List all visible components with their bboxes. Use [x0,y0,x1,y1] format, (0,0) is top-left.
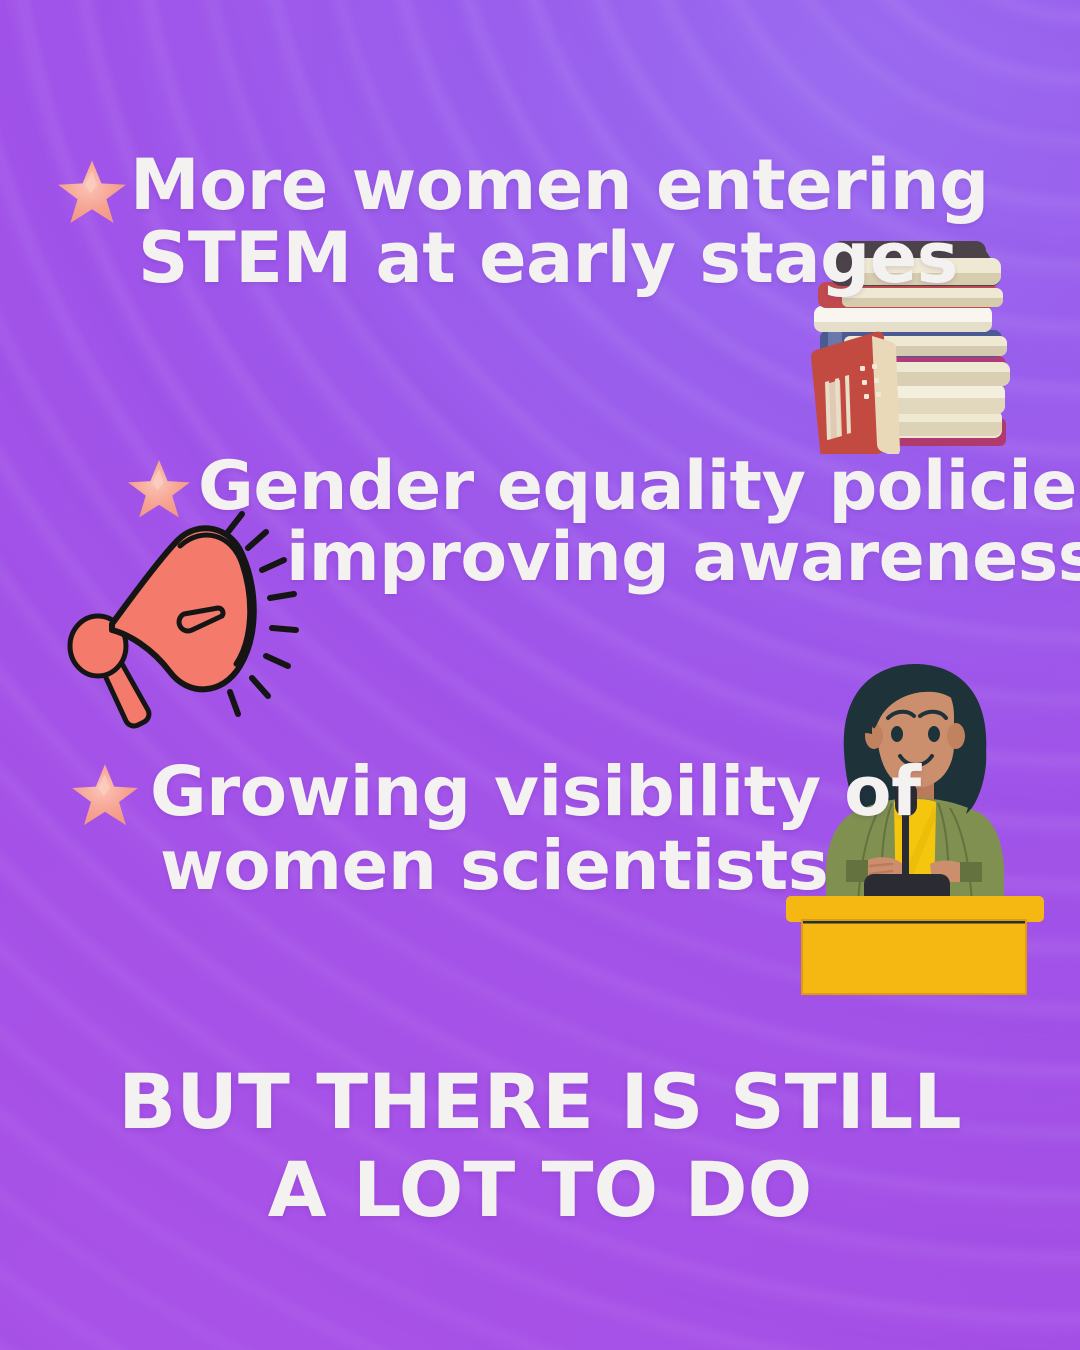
bullet-stem-entry: More women entering STEM at early stages [60,150,989,295]
bullet-visibility-line-2: women scientists [72,831,921,901]
poster-canvas: More women entering STEM at early stages… [0,0,1080,1350]
bullet-gender-policies-line-2: improving awareness [128,523,1080,592]
bullet-gender-policies-line-1: Gender equality policies [128,452,1080,521]
bullet-stem-entry-line-1: More women entering [60,150,989,221]
bullet-visibility-line-1: Growing visibility of [72,757,921,827]
bullet-visibility: Growing visibility of women scientists [72,757,921,902]
bullet-gender-policies: Gender equality policies improving aware… [128,452,1080,593]
bullet-stem-entry-line-2: STEM at early stages [60,223,989,294]
kicker-line-1: BUT THERE IS STILL [0,1058,1080,1146]
kicker-line-2: A LOT TO DO [0,1146,1080,1234]
kicker-headline: BUT THERE IS STILL A LOT TO DO [0,1058,1080,1234]
